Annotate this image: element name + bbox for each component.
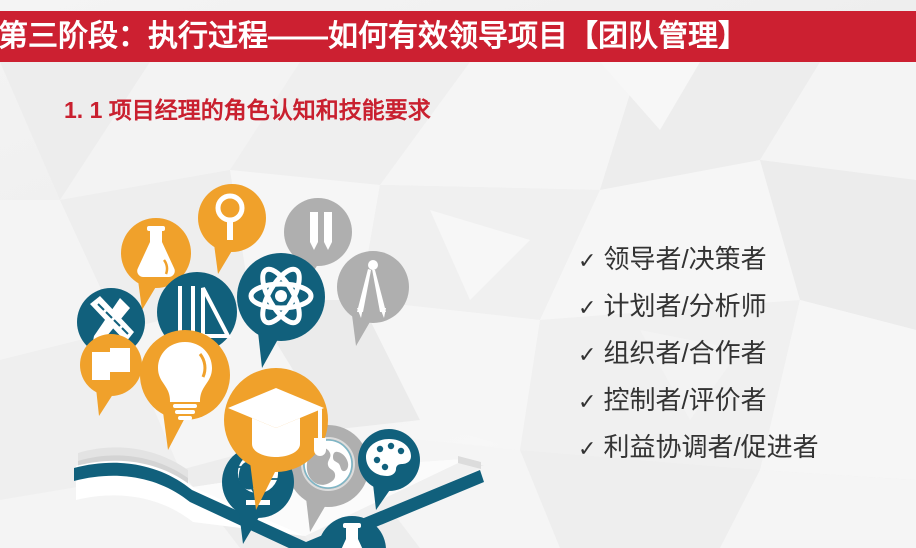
bubble-magnifier [198,184,266,274]
list-item: ✓ 计划者/分析师 [578,293,908,340]
bubble-atom [237,253,325,368]
list-item: ✓ 控制者/评价者 [578,387,908,434]
check-icon: ✓ [578,250,596,272]
check-icon: ✓ [578,391,596,413]
list-item-label: 组织者/合作者 [603,340,766,366]
bubble-compass [337,251,409,346]
bubble-open-book [80,334,142,416]
list-item-label: 利益协调者/促进者 [603,434,818,460]
check-icon: ✓ [578,344,596,366]
list-item-label: 计划者/分析师 [603,293,766,319]
roles-bullet-list: ✓ 领导者/决策者 ✓ 计划者/分析师 ✓ 组织者/合作者 ✓ 控制者/评价者 … [578,246,908,481]
check-icon: ✓ [578,297,596,319]
list-item: ✓ 利益协调者/促进者 [578,434,908,481]
slide-canvas: 第三阶段：执行过程——如何有效领导项目【团队管理】 1. 1 项目经理的角色认知… [0,0,916,548]
check-icon: ✓ [578,438,596,460]
page-title: 第三阶段：执行过程——如何有效领导项目【团队管理】 [0,22,748,52]
list-item: ✓ 领导者/决策者 [578,246,908,293]
title-banner: 第三阶段：执行过程——如何有效领导项目【团队管理】 [0,11,916,62]
section-subtitle: 1. 1 项目经理的角色认知和技能要求 [64,97,431,125]
list-item: ✓ 组织者/合作者 [578,340,908,387]
illustration-svg [60,170,500,548]
list-item-label: 控制者/评价者 [603,387,766,413]
list-item-label: 领导者/决策者 [603,246,766,272]
bubble-lightbulb [140,330,230,450]
book-and-bubbles-illustration [60,170,500,548]
